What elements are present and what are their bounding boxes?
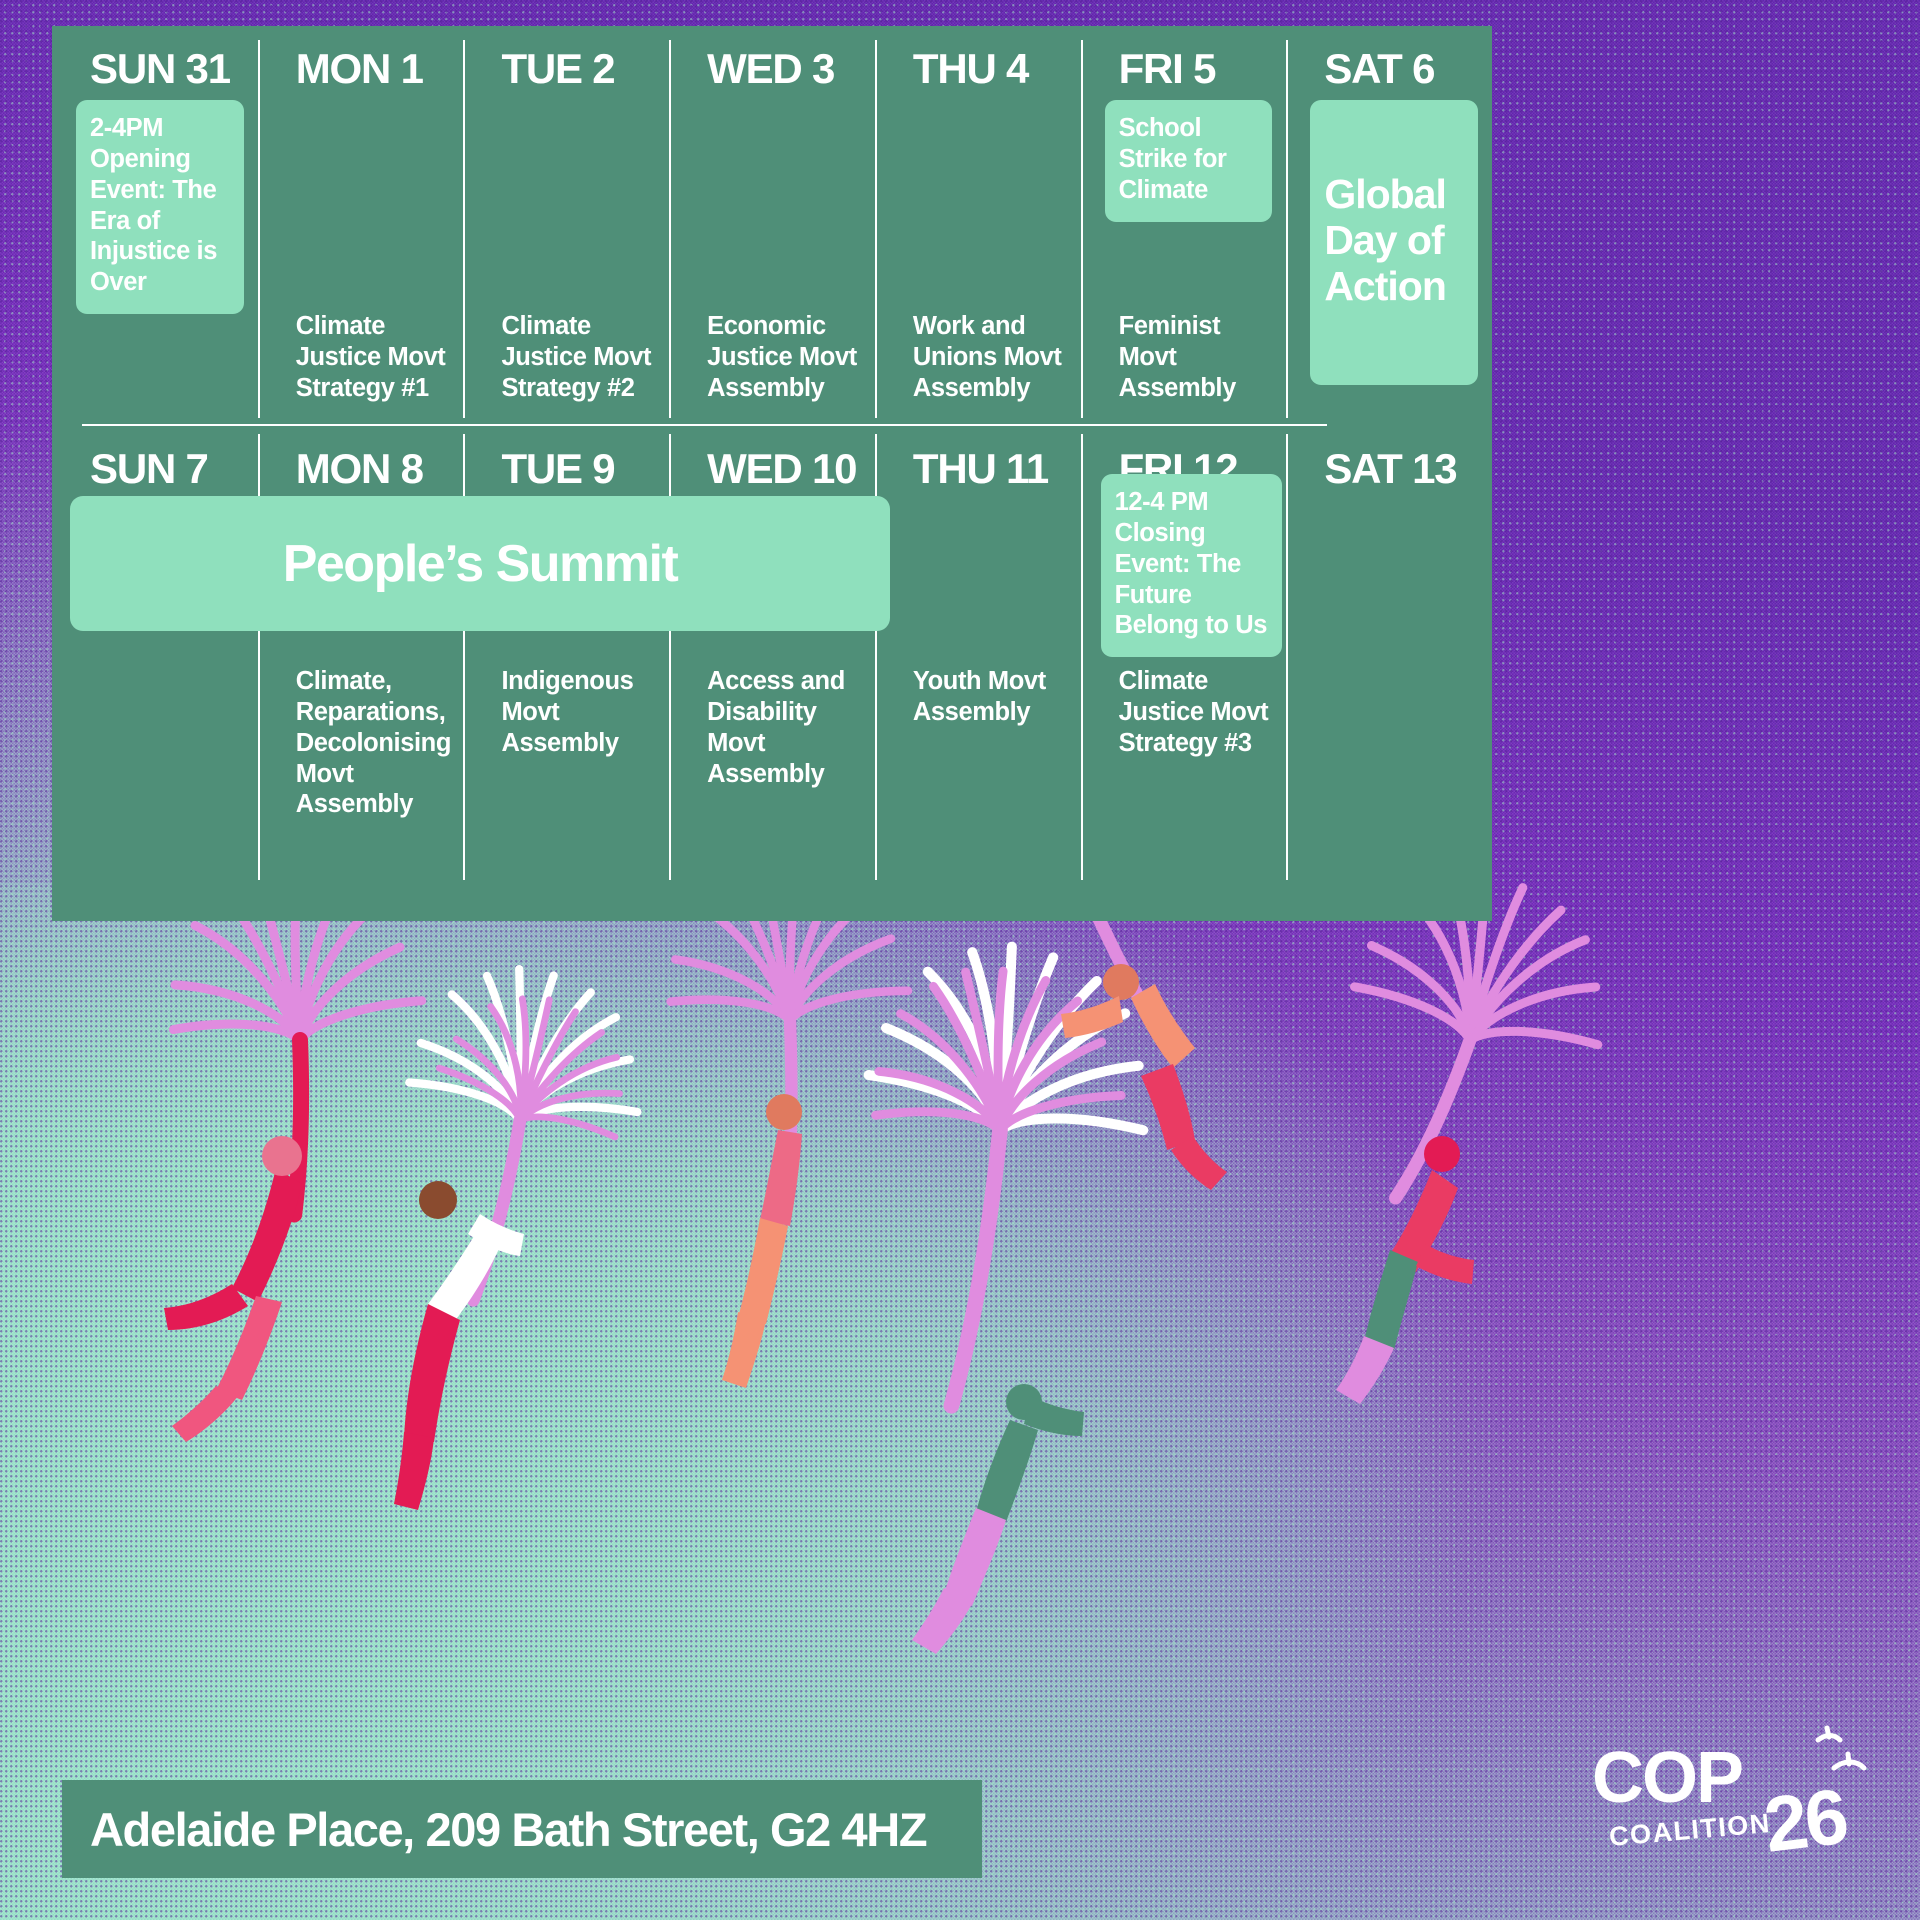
cop26-coalition-logo: COP COALITION 26 — [1582, 1724, 1882, 1874]
day-cell-sat-13[interactable]: SAT 13 — [1286, 426, 1492, 906]
logo-26-text: 26 — [1759, 1772, 1850, 1869]
day-header: MON 1 — [272, 26, 450, 100]
calendar-week-2: SUN 7 MON 8 Climate, Reparations, Decolo… — [52, 426, 1492, 906]
highlight-chip-closing-event[interactable]: 12-4 PM Closing Event: The Future Belong… — [1101, 474, 1283, 657]
peoples-summit-label: People’s Summit — [283, 534, 678, 594]
event-label: Youth Movt Assembly — [889, 666, 1075, 728]
event-label: Feminist Movt Assembly — [1095, 311, 1273, 424]
event-label: Climate, Reparations, Decolonising Movt … — [272, 666, 458, 820]
event-label: Indigenous Movt Assembly — [477, 666, 663, 759]
day-header: WED 10 — [683, 426, 861, 500]
bird-icon-2 — [1834, 1754, 1864, 1768]
peoples-summit-banner[interactable]: People’s Summit — [70, 496, 890, 631]
day-cell-mon-1[interactable]: MON 1 Climate Justice Movt Strategy #1 — [258, 26, 464, 424]
day-header: WED 3 — [683, 26, 861, 100]
event-label: Access and Disability Movt Assembly — [683, 666, 869, 789]
day-header: SUN 7 — [66, 426, 244, 500]
day-cell-sun-31[interactable]: SUN 31 2-4PM Opening Event: The Era of I… — [52, 26, 258, 424]
day-cell-fri-12[interactable]: FRI 12 12-4 PM Closing Event: The Future… — [1081, 426, 1287, 906]
logo-cop-text: COP — [1592, 1738, 1742, 1818]
day-header: THU 11 — [889, 426, 1067, 500]
address-bar: Adelaide Place, 209 Bath Street, G2 4HZ — [62, 1780, 982, 1878]
day-header: TUE 2 — [477, 26, 655, 100]
highlight-chip-opening-event[interactable]: 2-4PM Opening Event: The Era of Injustic… — [76, 100, 244, 314]
day-header: FRI 5 — [1095, 26, 1273, 100]
event-label: Climate Justice Movt Strategy #1 — [272, 311, 450, 424]
event-label: Work and Unions Movt Assembly — [889, 311, 1067, 424]
highlight-chip-school-strike[interactable]: School Strike for Climate — [1105, 100, 1273, 222]
address-label: Adelaide Place, 209 Bath Street, G2 4HZ — [62, 1802, 926, 1857]
day-header: SAT 6 — [1300, 26, 1478, 100]
day-cell-fri-5[interactable]: FRI 5 School Strike for Climate Feminist… — [1081, 26, 1287, 424]
event-label: Climate Justice Movt Strategy #2 — [477, 311, 655, 424]
day-cell-thu-11[interactable]: THU 11 Youth Movt Assembly — [875, 426, 1081, 906]
highlight-chip-global-day-of-action[interactable]: Global Day of Action — [1310, 100, 1478, 385]
day-cell-tue-2[interactable]: TUE 2 Climate Justice Movt Strategy #2 — [463, 26, 669, 424]
day-header: TUE 9 — [477, 426, 655, 500]
day-header: MON 8 — [272, 426, 450, 500]
day-cell-wed-3[interactable]: WED 3 Economic Justice Movt Assembly — [669, 26, 875, 424]
day-header: SAT 13 — [1300, 426, 1478, 500]
day-header: SUN 31 — [66, 26, 244, 100]
event-label: Climate Justice Movt Strategy #3 — [1095, 666, 1281, 759]
day-header: THU 4 — [889, 26, 1067, 100]
day-cell-thu-4[interactable]: THU 4 Work and Unions Movt Assembly — [875, 26, 1081, 424]
day-cell-sat-6[interactable]: SAT 6 Global Day of Action — [1286, 26, 1492, 424]
calendar-week-1: SUN 31 2-4PM Opening Event: The Era of I… — [52, 26, 1492, 424]
event-label: Economic Justice Movt Assembly — [683, 311, 861, 424]
calendar-panel: SUN 31 2-4PM Opening Event: The Era of I… — [52, 26, 1492, 921]
bird-icon-1 — [1818, 1728, 1840, 1740]
